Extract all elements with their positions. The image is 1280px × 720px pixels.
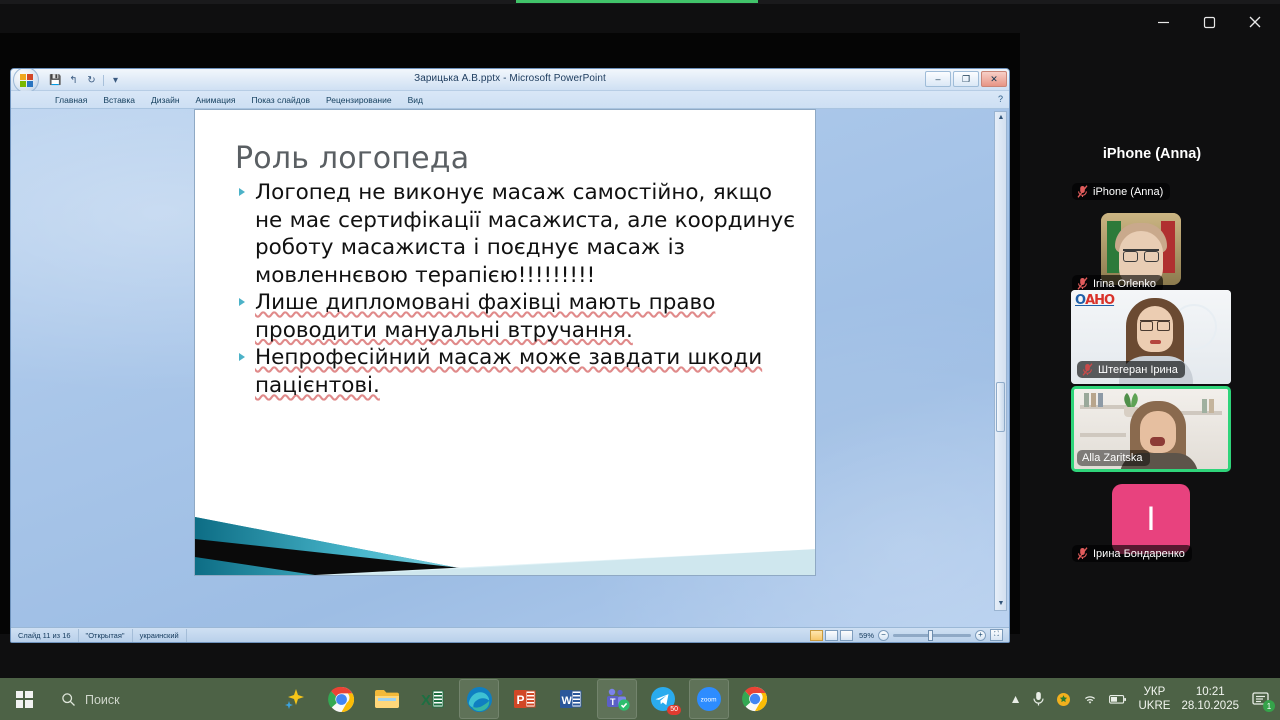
book-decor [1209,399,1214,413]
search-placeholder: Поиск [85,693,120,707]
ribbon-tab-animation[interactable]: Анимация [188,91,244,109]
active-share-title: iPhone (Anna) [1024,146,1280,162]
ribbon-tab-insert[interactable]: Вставка [95,91,143,109]
svg-text:T: T [610,697,616,707]
proofing-language[interactable]: украинский [133,629,187,642]
logo-letters-rest: AHO [1085,293,1114,308]
taskbar-app-file-explorer[interactable] [367,679,407,719]
ribbon-tab-slideshow[interactable]: Показ слайдов [243,91,318,109]
shelf-decor [1178,411,1222,415]
windows-start-icon [16,691,33,708]
book-decor [1098,393,1103,407]
language-indicator[interactable]: УКР UKRE [1138,685,1170,713]
windows-taskbar: Поиск X P W T [0,678,1280,720]
taskbar-app-word[interactable]: W [551,679,591,719]
powerpoint-title-bar: 💾 ↰ ↻ ▾ Зарицька А.В.pptx - Microsoft Po… [11,69,1009,91]
taskbar-app-chrome[interactable] [321,679,361,719]
oaho-logo: OAHO [1075,293,1114,308]
powerpoint-close-button[interactable]: ✕ [981,71,1007,87]
slide-decoration-graphic [195,487,816,575]
participant-name-iphone-anna: iPhone (Anna) [1093,186,1163,198]
zoom-slider-track[interactable] [893,634,971,637]
taskbar-app-copilot[interactable] [275,679,315,719]
taskbar-app-telegram[interactable]: 50 [643,679,683,719]
taskbar-app-list: X P W T 50 zoom [275,678,775,720]
screen-share-indicator-bar [516,0,758,3]
slide-title[interactable]: Роль логопеда [235,141,469,176]
reading-view-button[interactable] [840,630,853,641]
glasses-icon [1140,320,1170,328]
slide-canvas[interactable]: Роль логопеда Логопед не виконує масаж с… [194,109,816,576]
slide-bullet-1-text: Логопед не виконує масаж самостійно, якщ… [255,179,798,289]
scrollbar-thumb[interactable] [996,382,1005,432]
slide-vertical-scrollbar[interactable]: ▲ ▼ [994,111,1007,611]
shared-screen-area: 💾 ↰ ↻ ▾ Зарицька А.В.pptx - Microsoft Po… [0,33,1020,634]
powerpoint-minimize-button[interactable]: – [925,71,951,87]
svg-text:zoom: zoom [701,697,717,704]
bullet-marker-icon [239,353,245,361]
book-decor [1202,399,1207,413]
avatar-face [1140,411,1176,453]
taskbar-app-edge[interactable] [459,679,499,719]
svg-text:P: P [517,693,525,707]
taskbar-app-powerpoint[interactable]: P [505,679,545,719]
security-shield-icon[interactable] [1056,692,1071,707]
start-button[interactable] [8,683,40,715]
powerpoint-window-controls: – ❐ ✕ [925,71,1007,87]
powerpoint-restore-button[interactable]: ❐ [953,71,979,87]
svg-text:W: W [562,695,573,707]
taskbar-search-box[interactable]: Поиск [52,686,232,713]
language-code-bottom: UKRE [1138,699,1170,713]
taskbar-app-zoom[interactable]: zoom [689,679,729,719]
language-code-top: УКР [1138,685,1170,699]
participant-tile-alla-zaritska[interactable]: Alla Zaritska [1071,386,1231,472]
clock-time: 10:21 [1181,685,1239,699]
book-decor [1084,393,1089,407]
participant-name-shtegeran-irina: Штегеран Ірина [1098,364,1178,376]
taskbar-app-chrome-second[interactable] [735,679,775,719]
slide-bullet-3[interactable]: Непрофесійний масаж може завдати шкоди п… [233,344,798,399]
participant-badge-iphone-anna: iPhone (Anna) [1072,183,1170,200]
notification-count-badge: 1 [1263,700,1275,712]
normal-view-button[interactable] [810,630,823,641]
participant-name-irina-bondarenko: Ірина Бондаренко [1093,548,1185,560]
ribbon-tab-list: Главная Вставка Дизайн Анимация Показ сл… [11,91,1009,109]
slide-theme-name: "Открытая" [79,629,133,642]
zoom-in-button[interactable]: + [975,630,986,641]
zoom-slider-control[interactable]: 59% − + ⛶ [859,629,1009,641]
telegram-unread-badge: 50 [667,705,681,715]
logo-letter-o: O [1075,293,1085,308]
avatar-mouth [1150,437,1165,446]
microphone-icon[interactable] [1032,691,1045,707]
slide-bullet-2-text: Лише дипломовані фахівці мають право про… [255,289,798,344]
help-icon[interactable]: ? [998,94,1003,104]
mic-muted-icon [1082,363,1093,376]
mic-muted-icon [1077,185,1088,198]
svg-text:X: X [421,692,431,709]
powerpoint-ribbon-tabs: Главная Вставка Дизайн Анимация Показ сл… [11,91,1009,109]
participant-badge-alla-zaritska: Alla Zaritska [1077,450,1150,466]
ribbon-tab-design[interactable]: Дизайн [143,91,188,109]
slide-sorter-view-button[interactable] [825,630,838,641]
bullet-marker-icon [239,188,245,196]
system-tray: ▲ УКР UKRE 10:21 28.10.2025 [1010,678,1280,720]
participant-badge-shtegeran-irina: Штегеран Ірина [1077,361,1185,378]
wifi-icon[interactable] [1082,692,1098,706]
search-icon [61,692,76,707]
participant-badge-irina-bondarenko: Ірина Бондаренко [1072,545,1192,562]
participant-tile-shtegeran-irina[interactable]: OAHO Штегеран Ірина [1071,290,1231,384]
mic-muted-icon [1077,547,1088,560]
screen-root: 💾 ↰ ↻ ▾ Зарицька А.В.pptx - Microsoft Po… [0,0,1280,720]
ribbon-tab-view[interactable]: Вид [400,91,431,109]
zoom-percent-label: 59% [859,631,874,640]
ribbon-tab-home[interactable]: Главная [47,91,95,109]
fit-slide-to-window-icon[interactable]: ⛶ [990,629,1003,641]
zoom-top-strip [0,0,1280,4]
mic-muted-icon [1077,277,1088,290]
powerpoint-slide-pane: Роль логопеда Логопед не виконує масаж с… [11,109,1009,629]
clock-date: 28.10.2025 [1181,699,1239,713]
glasses-icon [1123,249,1159,258]
clock[interactable]: 10:21 28.10.2025 [1181,685,1239,713]
battery-icon[interactable] [1109,694,1127,705]
taskbar-app-teams[interactable]: T [597,679,637,719]
powerpoint-window: 💾 ↰ ↻ ▾ Зарицька А.В.pptx - Microsoft Po… [10,68,1010,643]
notification-center-button[interactable]: 1 [1250,688,1272,710]
view-switch-buttons[interactable] [810,630,859,641]
avatar-initial: I [1112,484,1190,554]
bullet-marker-icon [239,298,245,306]
avatar-lips [1150,340,1161,344]
slide-body-placeholder[interactable]: Логопед не виконує масаж самостійно, якщ… [233,179,798,399]
zoom-out-button[interactable]: − [878,630,889,641]
slide-bullet-2[interactable]: Лише дипломовані фахівці мають право про… [233,289,798,344]
participant-name-alla-zaritska: Alla Zaritska [1082,452,1143,464]
scroll-up-icon[interactable]: ▲ [997,114,1005,122]
participant-name-irina-orlenko: Irina Orlenko [1093,278,1156,290]
slide-counter: Слайд 11 из 16 [11,629,79,642]
powerpoint-document-title: Зарицька А.В.pptx - Microsoft PowerPoint [11,73,1009,84]
show-hidden-icons-icon[interactable]: ▲ [1010,692,1022,706]
book-decor [1091,393,1096,407]
taskbar-app-excel[interactable]: X [413,679,453,719]
participant-tile-irina-bondarenko[interactable]: I [1112,484,1190,554]
shelf-decor [1080,433,1126,437]
powerpoint-status-bar: Слайд 11 из 16 "Открытая" украинский 59%… [11,627,1009,642]
zoom-slider-knob[interactable] [928,630,933,641]
ribbon-tab-review[interactable]: Рецензирование [318,91,400,109]
slide-bullet-3-text: Непрофесійний масаж може завдати шкоди п… [255,344,798,399]
slide-bullet-1[interactable]: Логопед не виконує масаж самостійно, якщ… [233,179,798,289]
scroll-down-icon[interactable]: ▼ [997,600,1005,608]
